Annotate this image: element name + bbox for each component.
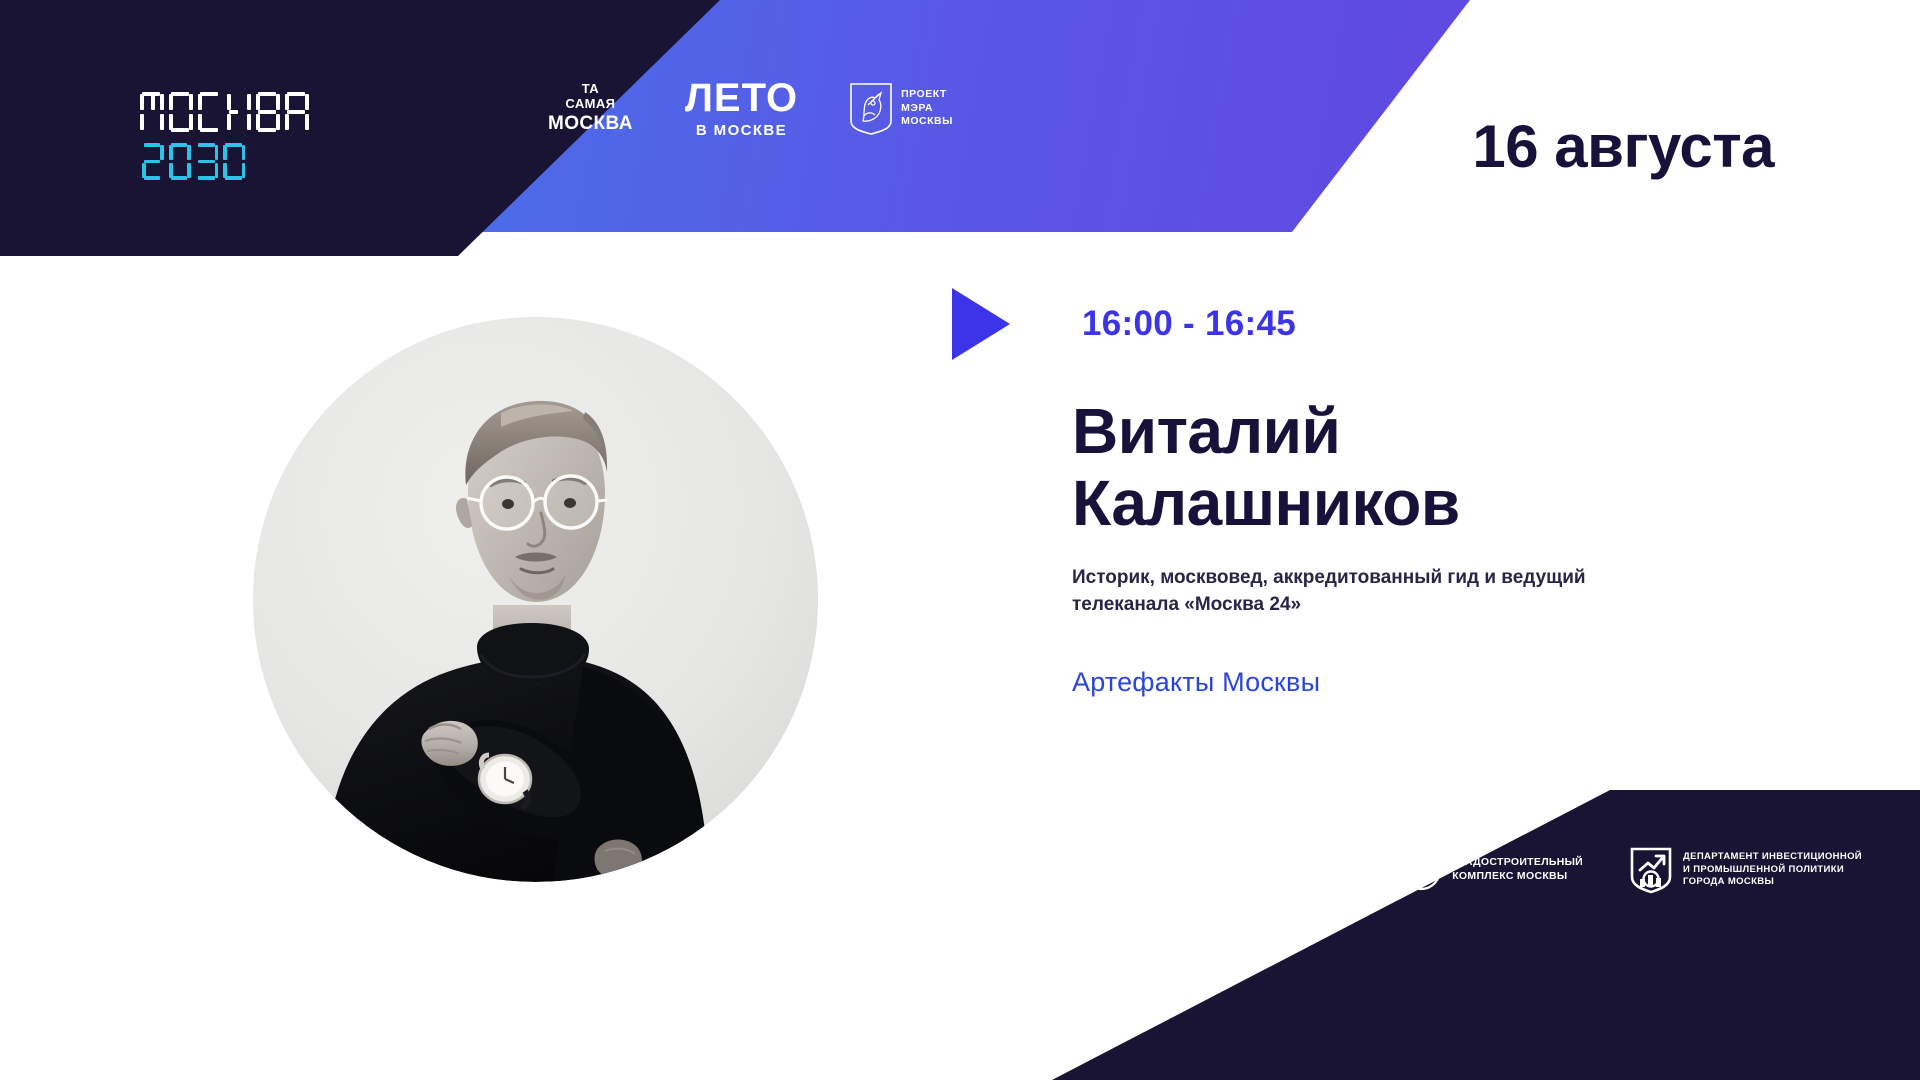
mayor-project-text: ПРОЕКТ МЭРА МОСКВЫ (901, 88, 953, 130)
speaker-last-name: Калашников (1072, 468, 1832, 540)
speaker-portrait-illustration (253, 317, 818, 882)
speaker-name: Виталий Калашников (1072, 396, 1832, 539)
speaker-first-name: Виталий (1072, 396, 1832, 468)
mayor-line2: МЭРА (901, 102, 953, 116)
led-char (227, 92, 251, 132)
departament-line1: ДЕПАРТАМЕНТ ИНВЕСТИЦИОННОЙ (1683, 851, 1862, 864)
brand-line-moskva (140, 92, 309, 132)
gradostroy-text: ГРАДОСТРОИТЕЛЬНЫЙ КОМПЛЕКС МОСКВЫ (1452, 856, 1583, 884)
led-char (223, 143, 245, 180)
logo-ta-samaya-moskva: ТА САМАЯ МОСКВА (548, 82, 633, 134)
ta-samaya-line2: САМАЯ (548, 97, 633, 112)
logo-gradostroitelnyy-kompleks: ГРАДОСТРОИТЕЛЬНЫЙ КОМПЛЕКС МОСКВЫ (1356, 848, 1583, 892)
ta-samaya-line3: МОСКВА (548, 113, 633, 135)
led-char (256, 92, 280, 132)
transport-spiral-icon (1177, 848, 1217, 892)
transport-line2: транспорт (1227, 870, 1310, 888)
mayor-line3: МОСКВЫ (901, 115, 953, 129)
logo-leto-v-moskve: ЛЕТО В МОСКВЕ (685, 78, 798, 139)
gradostroy-line1: ГРАДОСТРОИТЕЛЬНЫЙ (1452, 856, 1583, 870)
transport-line1: Московский (1227, 852, 1310, 870)
investment-shield-icon (1629, 846, 1673, 894)
ta-samaya-line1: ТА (548, 82, 633, 97)
logo-moskovskiy-transport: Московский транспорт (1133, 848, 1310, 892)
led-char (196, 143, 218, 180)
mayor-line1: ПРОЕКТ (901, 88, 953, 102)
logo-proekt-mera-moskvy: ПРОЕКТ МЭРА МОСКВЫ (850, 83, 953, 135)
speaker-photo (253, 317, 818, 882)
logo-departament-investicionnoy-politiki: ДЕПАРТАМЕНТ ИНВЕСТИЦИОННОЙ И ПРОМЫШЛЕННО… (1629, 846, 1862, 894)
header-partner-logos: ТА САМАЯ МОСКВА ЛЕТО В МОСКВЕ ПРОЕКТ МЭР… (548, 78, 953, 139)
session-details: 16:00 - 16:45 Виталий Калашников Историк… (1072, 288, 1832, 698)
moscow-coat-of-arms-icon (1133, 848, 1167, 892)
moscow-coat-of-arms-icon (1356, 848, 1390, 892)
brand-line-2030 (142, 143, 309, 180)
gradostroy-line2: КОМПЛЕКС МОСКВЫ (1452, 870, 1583, 884)
transport-text: Московский транспорт (1227, 852, 1310, 889)
led-char (169, 143, 191, 180)
led-char (169, 92, 193, 132)
departament-line3: ГОРОДА МОСКВЫ (1683, 876, 1862, 889)
moscow-2030-logo: МОСКВА 2030 (140, 92, 309, 180)
session-time: 16:00 - 16:45 (1082, 304, 1296, 344)
moscow-coat-of-arms-icon (850, 83, 892, 135)
led-char (142, 143, 164, 180)
speaker-description: Историк, москвовед, аккредитованный гид … (1072, 565, 1672, 619)
event-date: 16 августа (1472, 112, 1774, 181)
construction-crane-icon (1400, 849, 1442, 891)
leto-title: ЛЕТО (685, 78, 798, 118)
led-char (285, 92, 309, 132)
footer-dark-band (760, 790, 1920, 1080)
departament-text: ДЕПАРТАМЕНТ ИНВЕСТИЦИОННОЙ И ПРОМЫШЛЕННО… (1683, 851, 1862, 889)
session-topic: Артефакты Москвы (1072, 667, 1832, 698)
leto-subtitle: В МОСКВЕ (685, 122, 798, 139)
session-time-row: 16:00 - 16:45 (1072, 288, 1832, 360)
departament-line2: И ПРОМЫШЛЕННОЙ ПОЛИТИКИ (1683, 864, 1862, 877)
led-char (140, 92, 164, 132)
led-char (198, 92, 222, 132)
poster-canvas: МОСКВА 2030 ТА САМАЯ МОСКВА ЛЕТО В МОСКВ… (0, 0, 1920, 1080)
footer-partner-logos: Московский транспорт (1133, 846, 1862, 894)
play-triangle-icon (952, 288, 1010, 360)
